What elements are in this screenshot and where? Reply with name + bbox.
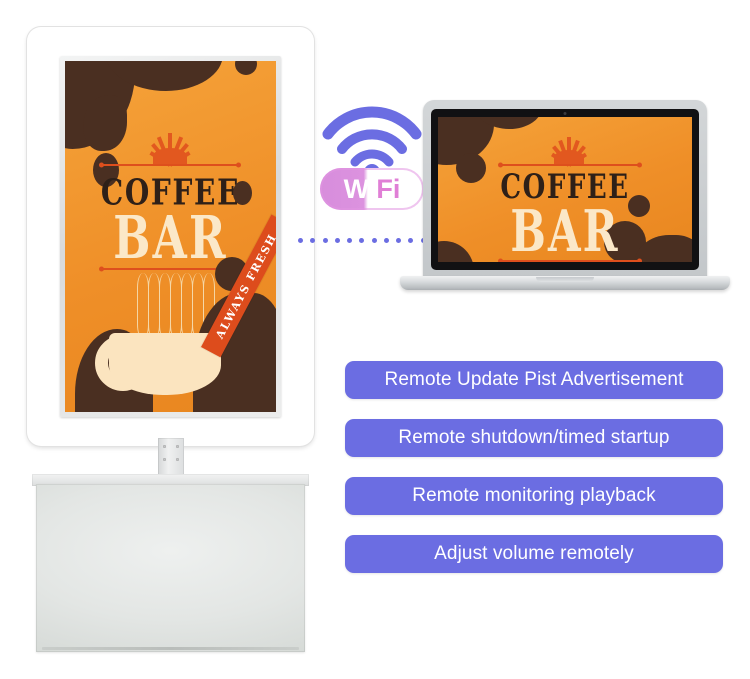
kiosk-body-panel: COFFEE BAR [27, 27, 314, 446]
laptop-lid: COFFEE BAR [423, 100, 707, 280]
kiosk-mounting-neck [158, 438, 184, 478]
laptop-poster-artwork: COFFEE BAR [438, 117, 692, 262]
laptop-bezel: COFFEE BAR [431, 109, 699, 270]
feature-pill-remote-monitoring[interactable]: Remote monitoring playback [345, 477, 723, 515]
laptop-front-notch [536, 277, 594, 282]
base-foot [42, 647, 299, 650]
wifi-label-fi: Fi [376, 176, 400, 203]
kiosk-display[interactable]: COFFEE BAR [65, 61, 276, 412]
poster-blob-drip [83, 95, 127, 151]
poster-circle-right [233, 181, 252, 205]
webcam-icon [564, 112, 567, 115]
advertising-kiosk: COFFEE BAR [27, 27, 314, 652]
wifi-label-wi: Wi [344, 176, 377, 203]
laptop-display[interactable]: COFFEE BAR [438, 117, 692, 262]
poster-rule-top [101, 164, 239, 166]
feature-pill-adjust-volume[interactable]: Adjust volume remotely [345, 535, 723, 573]
kiosk-pedestal-base [32, 474, 309, 652]
laptop-device: COFFEE BAR [400, 100, 730, 295]
base-front-panel [36, 484, 305, 652]
lap-rule-top [500, 164, 640, 166]
poster-artwork: COFFEE BAR [65, 61, 276, 412]
poster-circle-topright [235, 61, 257, 75]
laptop-base [400, 276, 730, 290]
lap-rule-bottom [500, 260, 640, 262]
lap-sunburst-icon [540, 135, 598, 165]
kiosk-screen-frame: COFFEE BAR [60, 56, 281, 417]
feature-pill-remote-shutdown[interactable]: Remote shutdown/timed startup [345, 419, 723, 457]
laptop-headline-bottom: BAR [438, 198, 692, 262]
sunburst-icon [139, 131, 201, 165]
feature-pill-remote-update[interactable]: Remote Update Pist Advertisement [345, 361, 723, 399]
scene-canvas: COFFEE BAR [0, 0, 750, 679]
feature-list: Remote Update Pist Advertisement Remote … [345, 361, 723, 573]
